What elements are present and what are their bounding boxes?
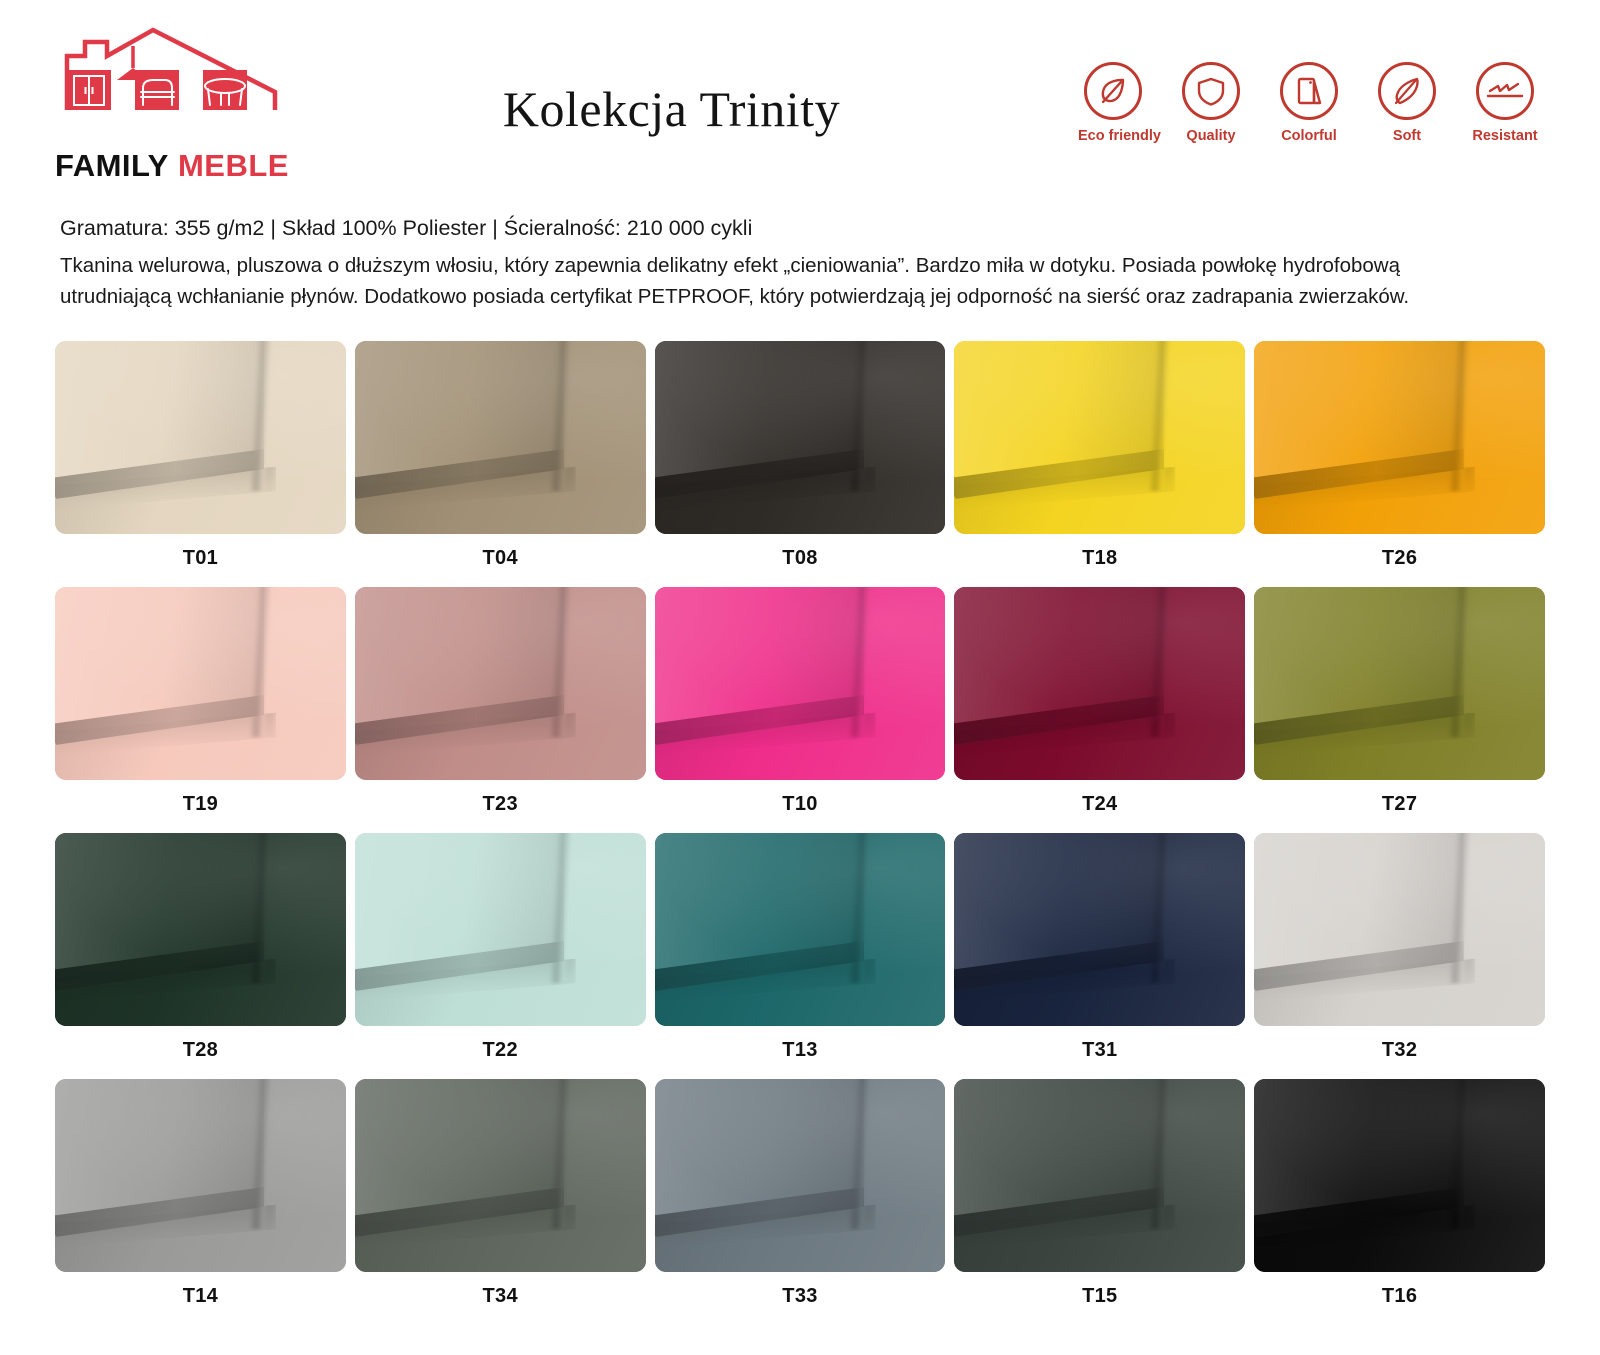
fabric-swatch-t32[interactable]: [1254, 833, 1545, 1026]
fabric-swatch-t16[interactable]: [1254, 1079, 1545, 1272]
swatch-cell: T19: [55, 587, 346, 833]
swatch-cell: T26: [1254, 341, 1545, 587]
swatch-cell: T10: [655, 587, 946, 833]
fabric-collection-page: FAMILY MEBLE Kolekcja Trinity Eco friend…: [0, 0, 1600, 1355]
title-container: Kolekcja Trinity: [305, 22, 1078, 138]
swatch-label: T04: [355, 534, 646, 587]
fabric-swatch-t01[interactable]: [55, 341, 346, 534]
swatch-cell: T32: [1254, 833, 1545, 1079]
fabric-swatch-t27[interactable]: [1254, 587, 1545, 780]
swatch-cell: T34: [355, 1079, 646, 1325]
fabric-fold-sheen: [954, 587, 1245, 780]
swatch-cell: T13: [655, 833, 946, 1079]
swatch-label: T22: [355, 1026, 646, 1079]
fabric-fold-sheen: [1254, 833, 1545, 1026]
feature-colorful: Colorful: [1274, 62, 1344, 144]
color-swatch-icon: [1280, 62, 1338, 120]
fabric-swatch-t10[interactable]: [655, 587, 946, 780]
swatch-cell: T22: [355, 833, 646, 1079]
zigzag-abrasion-icon: [1476, 62, 1534, 120]
swatch-label: T27: [1254, 780, 1545, 833]
swatch-cell: T16: [1254, 1079, 1545, 1325]
feature-resistant: Resistant: [1470, 62, 1540, 144]
swatch-label: T01: [55, 534, 346, 587]
feature-label: Soft: [1372, 128, 1442, 144]
fabric-swatch-t28[interactable]: [55, 833, 346, 1026]
swatch-cell: T08: [655, 341, 946, 587]
fabric-fold-sheen: [55, 833, 346, 1026]
fabric-swatch-t23[interactable]: [355, 587, 646, 780]
brand-name-meble: MEBLE: [178, 148, 289, 183]
swatch-label: T14: [55, 1272, 346, 1325]
fabric-fold-sheen: [55, 587, 346, 780]
fabric-fold-sheen: [954, 341, 1245, 534]
fabric-swatch-t22[interactable]: [355, 833, 646, 1026]
fabric-fold-sheen: [1254, 587, 1545, 780]
fabric-swatch-t08[interactable]: [655, 341, 946, 534]
fabric-fold-sheen: [655, 341, 946, 534]
fabric-fold-sheen: [55, 1079, 346, 1272]
feature-label: Resistant: [1470, 128, 1540, 144]
fabric-swatch-t34[interactable]: [355, 1079, 646, 1272]
fabric-fold-sheen: [1254, 1079, 1545, 1272]
feature-label: Colorful: [1274, 128, 1344, 144]
swatch-label: T10: [655, 780, 946, 833]
description-block: Gramatura: 355 g/m2 | Skład 100% Poliest…: [0, 212, 1600, 313]
brand-wordmark: FAMILY MEBLE: [55, 148, 305, 184]
swatch-cell: T01: [55, 341, 346, 587]
fabric-swatch-t14[interactable]: [55, 1079, 346, 1272]
swatch-cell: T14: [55, 1079, 346, 1325]
fabric-swatch-t31[interactable]: [954, 833, 1245, 1026]
swatch-cell: T24: [954, 587, 1245, 833]
fabric-swatch-t19[interactable]: [55, 587, 346, 780]
swatch-label: T15: [954, 1272, 1245, 1325]
swatch-label: T33: [655, 1272, 946, 1325]
swatch-cell: T18: [954, 341, 1245, 587]
fabric-fold-sheen: [355, 1079, 646, 1272]
page-header: FAMILY MEBLE Kolekcja Trinity Eco friend…: [0, 0, 1600, 200]
swatch-label: T18: [954, 534, 1245, 587]
feature-badges: Eco friendly Quality C: [1078, 22, 1540, 144]
fabric-swatch-t18[interactable]: [954, 341, 1245, 534]
page-title: Kolekcja Trinity: [305, 80, 1038, 138]
swatch-cell: T33: [655, 1079, 946, 1325]
fabric-fold-sheen: [355, 833, 646, 1026]
swatch-cell: T04: [355, 341, 646, 587]
fabric-fold-sheen: [55, 341, 346, 534]
house-furniture-logo-icon: [55, 26, 287, 144]
fabric-swatch-t13[interactable]: [655, 833, 946, 1026]
feature-quality: Quality: [1176, 62, 1246, 144]
swatch-label: T28: [55, 1026, 346, 1079]
swatch-label: T19: [55, 780, 346, 833]
fabric-fold-sheen: [655, 833, 946, 1026]
swatch-cell: T23: [355, 587, 646, 833]
feature-eco-friendly: Eco friendly: [1078, 62, 1148, 144]
swatch-label: T31: [954, 1026, 1245, 1079]
feature-label: Eco friendly: [1078, 128, 1148, 144]
fabric-swatch-t24[interactable]: [954, 587, 1245, 780]
fabric-swatch-t33[interactable]: [655, 1079, 946, 1272]
swatch-label: T32: [1254, 1026, 1545, 1079]
swatch-label: T08: [655, 534, 946, 587]
fabric-fold-sheen: [1254, 341, 1545, 534]
fabric-swatch-grid: T01T04T08T18T26T19T23T10T24T27T28T22T13T…: [0, 341, 1600, 1325]
fabric-fold-sheen: [655, 587, 946, 780]
specifications-line: Gramatura: 355 g/m2 | Skład 100% Poliest…: [60, 212, 1538, 244]
brand-logo: FAMILY MEBLE: [55, 22, 305, 184]
fabric-fold-sheen: [954, 833, 1245, 1026]
leaf-icon: [1084, 62, 1142, 120]
swatch-cell: T28: [55, 833, 346, 1079]
fabric-swatch-t04[interactable]: [355, 341, 646, 534]
fabric-fold-sheen: [355, 341, 646, 534]
fabric-fold-sheen: [355, 587, 646, 780]
fabric-fold-sheen: [655, 1079, 946, 1272]
fabric-swatch-t15[interactable]: [954, 1079, 1245, 1272]
brand-name-family: FAMILY: [55, 148, 169, 183]
swatch-label: T23: [355, 780, 646, 833]
swatch-label: T26: [1254, 534, 1545, 587]
feather-icon: [1378, 62, 1436, 120]
swatch-label: T16: [1254, 1272, 1545, 1325]
swatch-label: T34: [355, 1272, 646, 1325]
shield-icon: [1182, 62, 1240, 120]
swatch-cell: T31: [954, 833, 1245, 1079]
feature-soft: Soft: [1372, 62, 1442, 144]
description-text: Tkanina welurowa, pluszowa o dłuższym wł…: [60, 250, 1480, 312]
swatch-label: T13: [655, 1026, 946, 1079]
fabric-fold-sheen: [954, 1079, 1245, 1272]
feature-label: Quality: [1176, 128, 1246, 144]
swatch-cell: T15: [954, 1079, 1245, 1325]
swatch-label: T24: [954, 780, 1245, 833]
swatch-cell: T27: [1254, 587, 1545, 833]
fabric-swatch-t26[interactable]: [1254, 341, 1545, 534]
